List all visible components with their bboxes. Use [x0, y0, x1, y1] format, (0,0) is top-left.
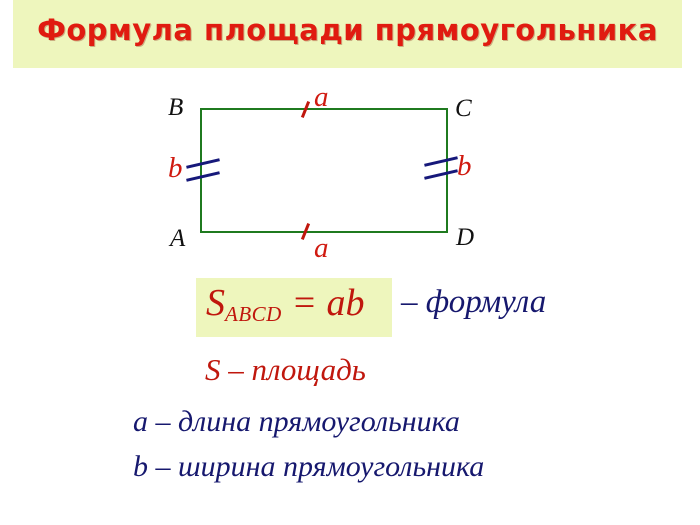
formula-caption: – формула — [401, 284, 546, 320]
slide-canvas: Формула площади прямоугольника B C A D a… — [0, 0, 700, 525]
vertex-label-c: C — [455, 96, 472, 121]
tick-stroke — [186, 158, 220, 169]
legend-line-area: S – площадь — [205, 352, 366, 388]
rectangle-outline — [200, 108, 448, 233]
legend-line-length: a – длина прямоугольника — [133, 405, 460, 439]
tick-stroke — [424, 169, 458, 180]
side-label-bottom-a: a — [314, 234, 329, 263]
legend-line-width: b – ширина прямоугольника — [133, 450, 484, 484]
vertex-label-a: A — [170, 226, 185, 251]
tick-mark-right-icon — [424, 156, 458, 182]
page-title: Формула площади прямоугольника — [13, 13, 682, 47]
rectangle-figure: B C A D a a b b — [0, 68, 700, 268]
side-label-left-b: b — [168, 154, 183, 183]
vertex-label-b: B — [168, 95, 183, 120]
area-formula: SABCD = ab — [206, 283, 364, 326]
formula-symbol: S — [206, 282, 225, 324]
side-label-right-b: b — [457, 152, 472, 181]
side-label-top-a: a — [314, 83, 329, 112]
title-banner: Формула площади прямоугольника — [13, 0, 682, 68]
tick-stroke — [186, 171, 220, 182]
formula-equals: = — [282, 282, 327, 324]
formula-expression: ab — [326, 282, 364, 324]
tick-mark-left-icon — [186, 158, 220, 184]
vertex-label-d: D — [456, 225, 474, 250]
tick-stroke — [424, 156, 458, 167]
formula-subscript: ABCD — [225, 302, 282, 326]
